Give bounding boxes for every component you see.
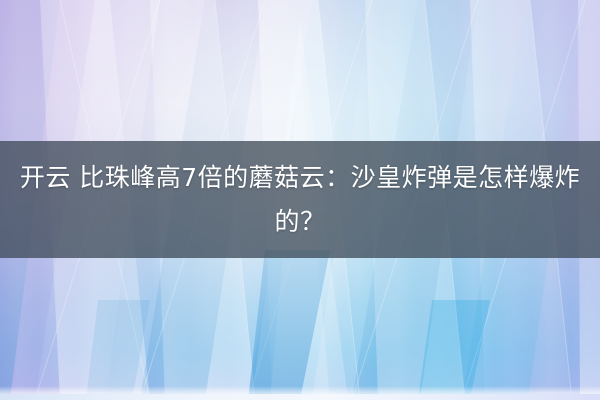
cover-title: 开云 比珠峰高7倍的蘑菇云：沙皇炸弹是怎样爆炸的？ [14,156,586,244]
cover-image: 开云 比珠峰高7倍的蘑菇云：沙皇炸弹是怎样爆炸的？ [0,0,600,400]
title-band: 开云 比珠峰高7倍的蘑菇云：沙皇炸弹是怎样爆炸的？ [0,141,600,258]
bottom-edge-strip [0,394,600,400]
